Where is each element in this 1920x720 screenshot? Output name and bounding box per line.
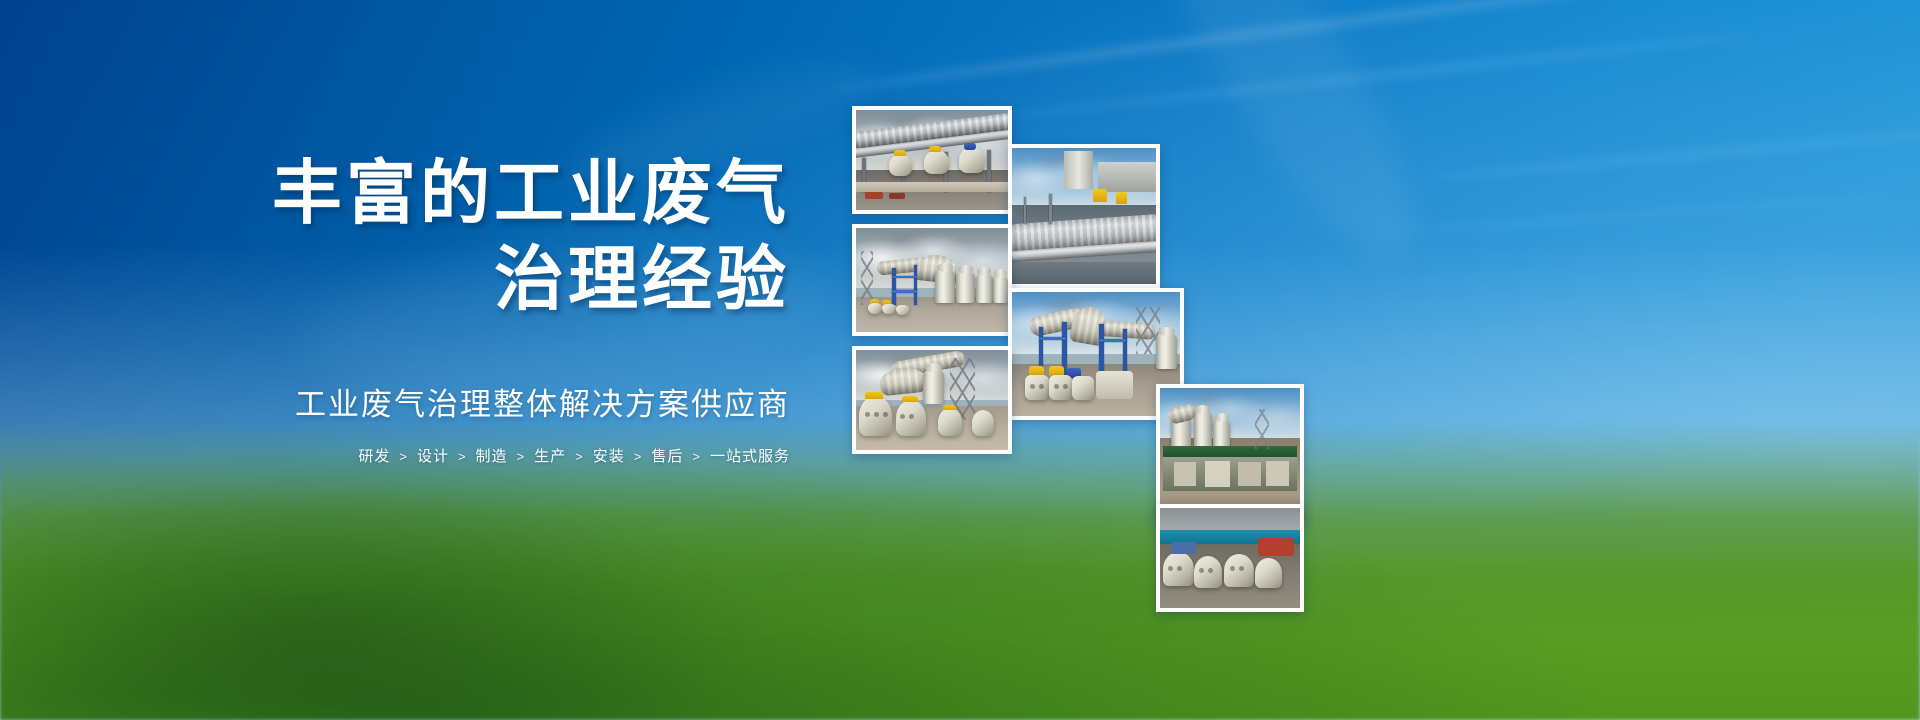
photo-image	[856, 350, 1008, 450]
breadcrumb-separator-icon: >	[575, 444, 584, 470]
grass-shadow	[0, 470, 900, 720]
breadcrumb-step-installation: 安装	[593, 444, 625, 470]
breadcrumb-separator-icon: >	[692, 444, 701, 470]
collage-photo-greenhouse-equipment-yard[interactable]	[1156, 384, 1304, 524]
project-photo-collage	[840, 100, 1900, 620]
headline-line-2: 治理经验	[0, 236, 790, 322]
photo-image	[856, 228, 1008, 332]
collage-photo-fan-housing-row[interactable]	[852, 346, 1012, 454]
collage-photo-rooftop-pipeline[interactable]	[1008, 144, 1160, 288]
headline-line-1: 丰富的工业废气	[0, 150, 790, 236]
breadcrumb-step-manufacture: 制造	[476, 444, 508, 470]
breadcrumb-step-rd: 研发	[358, 444, 390, 470]
breadcrumb-separator-icon: >	[458, 444, 467, 470]
breadcrumb-step-aftersales: 售后	[651, 444, 683, 470]
photo-image	[1012, 148, 1156, 284]
breadcrumb-step-onestop: 一站式服务	[710, 444, 790, 470]
breadcrumb-step-design: 设计	[417, 444, 449, 470]
collage-photo-rto-duct-plant[interactable]	[852, 106, 1012, 214]
breadcrumb-separator-icon: >	[634, 444, 643, 470]
banner-copy: 丰富的工业废气 治理经验 工业废气治理整体解决方案供应商 研发 > 设计 > 制…	[0, 150, 800, 470]
hero-banner: 丰富的工业废气 治理经验 工业废气治理整体解决方案供应商 研发 > 设计 > 制…	[0, 0, 1920, 720]
breadcrumb-separator-icon: >	[517, 444, 526, 470]
breadcrumb-separator-icon: >	[399, 444, 408, 470]
photo-image	[856, 110, 1008, 210]
breadcrumb-step-production: 生产	[534, 444, 566, 470]
collage-photo-scrubber-tower-array[interactable]	[852, 224, 1012, 336]
banner-subtitle: 工业废气治理整体解决方案供应商	[0, 384, 800, 426]
photo-image	[1160, 388, 1300, 520]
page-title: 丰富的工业废气 治理经验	[0, 150, 800, 322]
collage-photo-workshop-fan-stock[interactable]	[1156, 504, 1304, 612]
process-breadcrumb: 研发 > 设计 > 制造 > 生产 > 安装 > 售后 > 一站式服务	[0, 444, 800, 470]
photo-image	[1160, 508, 1300, 608]
photo-image	[1012, 292, 1180, 416]
